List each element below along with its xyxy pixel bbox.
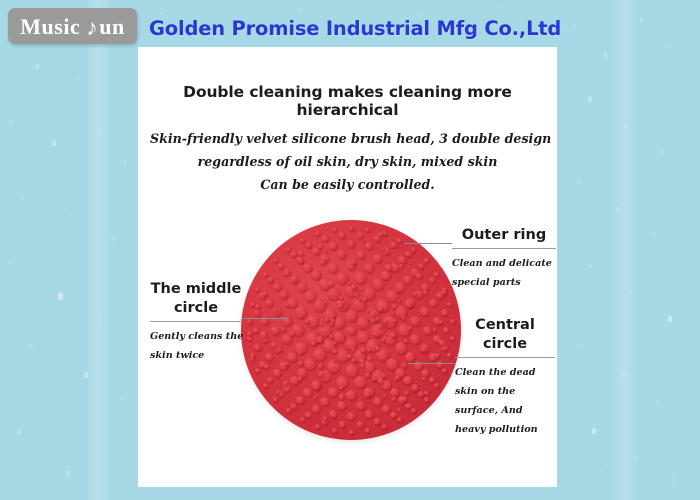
brush-nub <box>332 227 337 232</box>
brush-nub <box>336 272 348 284</box>
brush-nub <box>382 424 387 429</box>
brush-nub <box>290 403 297 410</box>
brush-nub <box>329 410 337 418</box>
callout-outer-ring-desc: Clean and delicate special parts <box>452 254 556 292</box>
brush-nub <box>412 385 418 391</box>
brush-nub <box>357 421 364 428</box>
brush-nub <box>404 339 408 343</box>
brush-nub <box>354 376 366 388</box>
brush-nub <box>365 372 371 378</box>
brush-nub <box>404 391 409 396</box>
brush-nub <box>253 327 260 334</box>
brush-nub <box>311 270 321 280</box>
brush-nub <box>315 231 320 236</box>
brush-nub <box>323 416 328 421</box>
brush-nub <box>330 322 334 326</box>
brush-nub <box>286 247 291 252</box>
brush-nub <box>356 250 365 259</box>
brush-nub <box>332 428 337 433</box>
leader-line-middle-circle <box>242 318 290 319</box>
brush-nub <box>289 331 295 337</box>
brush-nub <box>356 401 365 410</box>
water-droplet <box>66 470 70 476</box>
brush-nub <box>247 319 252 324</box>
water-droplet <box>300 8 302 12</box>
brush-nub <box>283 268 291 276</box>
callout-middle-circle: The middle circle Gently cleans the skin… <box>150 280 242 365</box>
brush-nub <box>315 424 320 429</box>
brush-nub <box>264 364 269 369</box>
brush-nub <box>329 242 337 250</box>
water-droplet <box>78 78 80 81</box>
callout-central-circle-desc-line-1: Clean the dead <box>455 363 555 382</box>
callout-central-circle-title: Central circle <box>455 316 555 354</box>
brush-nub <box>255 368 260 373</box>
brush-nub <box>423 290 428 295</box>
brush-nub <box>271 326 280 335</box>
brush-nub <box>405 251 412 258</box>
brush-nub <box>371 312 376 317</box>
water-droplet <box>120 398 122 401</box>
brush-nub <box>390 412 397 419</box>
callout-central-circle-desc-line-3: surface, And <box>455 401 555 420</box>
brush-nub <box>395 342 407 354</box>
brush-nub <box>305 319 310 324</box>
brush-nub <box>420 307 429 316</box>
callout-central-circle-title-line-2: circle <box>455 335 555 354</box>
brush-nub <box>255 287 260 292</box>
brush-nub <box>247 336 252 341</box>
water-droplet <box>70 214 72 217</box>
brush-nub <box>300 417 305 422</box>
brush-nub <box>365 410 373 418</box>
callout-central-circle-desc: Clean the dead skin on the surface, And … <box>455 363 555 439</box>
brush-nub <box>329 334 334 339</box>
brush-nub <box>441 290 446 295</box>
brush-nub <box>411 247 416 252</box>
callout-middle-circle-title-line-1: The middle <box>150 280 242 299</box>
brush-nub <box>365 242 373 250</box>
brush-nub <box>273 283 281 291</box>
brush-nub <box>362 239 365 242</box>
brush-nub <box>411 408 416 413</box>
brush-nub <box>273 369 281 377</box>
water-droplet <box>660 150 663 154</box>
brush-nub <box>339 232 346 239</box>
brush-nub <box>373 397 382 406</box>
callout-central-circle-rule <box>455 357 555 358</box>
brush-nub <box>303 388 312 397</box>
brush-nub <box>299 315 303 319</box>
brush-nub <box>390 242 397 249</box>
water-droplet <box>668 44 670 47</box>
brush-nub <box>416 273 422 279</box>
brush-nub <box>423 326 432 335</box>
brush-nub <box>349 430 354 435</box>
brush-nub <box>254 344 261 351</box>
water-droplet <box>98 132 100 135</box>
brush-nub <box>305 242 312 249</box>
brush-nub <box>397 299 400 302</box>
brush-nub <box>422 377 426 381</box>
logo-text-after: un <box>99 16 124 38</box>
brush-nub <box>331 315 335 319</box>
brush-nub <box>433 328 437 332</box>
water-droplet <box>104 452 106 455</box>
brush-nub <box>378 378 384 384</box>
brush-nub <box>250 302 255 307</box>
brush-nub <box>311 341 316 346</box>
brush-nub <box>346 390 356 400</box>
brush-nub <box>403 376 412 385</box>
brush-nub <box>408 326 412 330</box>
brush-nub <box>250 357 254 361</box>
brush-nub <box>281 327 285 331</box>
water-droplet <box>160 12 162 15</box>
callout-central-circle: Central circle Clean the dead skin on th… <box>455 316 555 439</box>
brush-nub <box>398 408 401 411</box>
brush-nub <box>429 299 437 307</box>
brush-nub <box>370 318 376 324</box>
brush-nub <box>320 260 325 265</box>
brush-nub <box>347 282 350 285</box>
brush-nub <box>339 421 346 428</box>
brush-nub <box>278 263 285 270</box>
callout-central-circle-desc-line-2: skin on the <box>455 382 555 401</box>
brush-nub <box>378 232 383 237</box>
brush-nub <box>390 388 399 397</box>
brush-nub <box>314 395 317 398</box>
brush-nub <box>406 302 412 308</box>
callout-outer-ring-desc-line-1: Clean and delicate <box>452 254 556 273</box>
brush-nub <box>328 280 334 286</box>
water-droplet <box>36 64 39 69</box>
brush-nub <box>402 396 408 402</box>
brush-nub <box>394 378 397 381</box>
callout-outer-ring-title: Outer ring <box>452 226 556 245</box>
brush-nub <box>374 418 381 425</box>
brush-nub <box>325 300 329 304</box>
brush-nub <box>263 383 268 388</box>
callout-middle-circle-desc-line-2: skin twice <box>150 346 242 365</box>
brush-nub <box>392 397 396 401</box>
brush-nub <box>318 244 323 249</box>
brush-nub <box>357 232 364 239</box>
brush-nub <box>325 317 329 321</box>
water-droplet <box>84 372 88 378</box>
water-droplet <box>652 232 654 236</box>
leader-line-central-circle <box>408 363 456 364</box>
water-droplet <box>578 180 580 183</box>
brush-nub <box>265 299 273 307</box>
brush-nub <box>347 240 355 248</box>
callout-middle-circle-rule <box>150 321 242 322</box>
brush-nub <box>337 250 346 259</box>
callout-outer-ring: Outer ring Clean and delicate special pa… <box>452 226 556 292</box>
water-droplet <box>668 316 672 322</box>
brush-nub <box>391 312 395 316</box>
water-droplet <box>58 292 63 300</box>
brush-nub <box>273 258 278 263</box>
company-title: Golden Promise Industrial Mfg Co.,Ltd <box>149 17 561 40</box>
brush-nub <box>298 376 302 380</box>
water-droplet <box>580 344 582 347</box>
brush-nub <box>313 348 326 361</box>
background-sheen-right <box>612 0 638 500</box>
brush-nub <box>395 290 398 293</box>
brush-nub <box>286 408 291 413</box>
callout-central-circle-title-line-1: Central <box>455 316 555 335</box>
callout-central-circle-desc-line-4: heavy pollution <box>455 420 555 439</box>
brush-nub <box>424 397 429 402</box>
subheadline-line-1: Skin-friendly velvet silicone brush head… <box>150 127 545 150</box>
water-droplet <box>616 206 620 212</box>
brush-nub <box>313 384 319 390</box>
brush-nub <box>339 296 343 300</box>
brush-nub <box>365 227 370 232</box>
brush-nub <box>298 361 303 366</box>
logo-text-before: Music <box>20 16 80 38</box>
brush-nub <box>375 346 380 351</box>
brush-nub <box>367 348 371 352</box>
brush-nub <box>385 264 391 270</box>
callout-middle-circle-desc: Gently cleans the skin twice <box>150 327 242 365</box>
subheadline-line-3: Can be easily controlled. <box>150 173 545 196</box>
brush-nub <box>260 331 266 337</box>
brush-nub <box>247 331 252 336</box>
brush-nub <box>319 322 323 326</box>
brush-nub <box>405 352 415 362</box>
brush-nub <box>287 352 297 362</box>
water-droplet <box>52 140 56 146</box>
water-droplet <box>124 160 126 164</box>
brush-nub <box>383 319 388 324</box>
brand-logo[interactable]: Music♪un <box>8 8 137 44</box>
water-droplet <box>100 318 102 322</box>
brush-nub <box>298 251 303 256</box>
brush-nub <box>403 275 412 284</box>
callout-middle-circle-desc-line-1: Gently cleans the <box>150 327 242 346</box>
water-droplet <box>588 264 591 268</box>
brush-nub <box>382 373 387 378</box>
subheadline-line-2: regardless of oil skin, dry skin, mixed … <box>150 150 545 173</box>
brush-nub <box>367 356 371 360</box>
water-droplet <box>572 24 574 27</box>
water-droplet <box>588 96 592 102</box>
subheadline: Skin-friendly velvet silicone brush head… <box>150 127 545 196</box>
brush-nub <box>325 249 328 252</box>
water-droplet <box>10 120 13 124</box>
brand-logo-text: Music♪un <box>20 15 124 38</box>
water-droplet <box>500 6 502 9</box>
brush-nub <box>320 397 329 406</box>
brush-nub <box>410 334 420 344</box>
brush-nub <box>305 412 312 419</box>
brush-nub <box>418 263 425 270</box>
brush-nub <box>421 369 429 377</box>
brush-nub <box>284 362 289 367</box>
brush-nub <box>303 263 312 272</box>
callout-middle-circle-title-line-2: circle <box>150 299 242 318</box>
brush-nub <box>429 377 436 384</box>
brush-nub <box>333 317 345 329</box>
brush-nub <box>372 278 384 290</box>
water-droplet <box>8 262 10 265</box>
brush-nub <box>296 396 304 404</box>
water-droplet <box>640 18 642 22</box>
water-droplet <box>622 372 625 377</box>
brush-nub <box>351 358 356 363</box>
brush-nub <box>300 238 305 243</box>
water-droplet <box>658 400 660 403</box>
brush-nub <box>312 405 320 413</box>
brush-nub <box>263 292 267 296</box>
brush-nub <box>328 263 338 273</box>
background-sheen-left <box>86 0 112 500</box>
headline: Double cleaning makes cleaning more hier… <box>138 83 557 119</box>
music-note-icon: ♪ <box>86 16 98 39</box>
product-infographic-page: Music♪un Golden Promise Industrial Mfg C… <box>0 0 700 500</box>
brush-nub <box>447 353 452 358</box>
brush-nub <box>304 358 316 370</box>
brush-nub <box>402 316 405 319</box>
brush-nub <box>434 272 439 277</box>
brush-nub <box>397 417 402 422</box>
water-droplet <box>18 430 21 434</box>
brush-nub <box>267 377 274 384</box>
brush-nub <box>328 387 338 397</box>
brush-nub <box>383 394 387 398</box>
brush-nub <box>345 310 357 322</box>
brush-nub <box>283 381 288 386</box>
brush-nub <box>381 270 391 280</box>
brush-nub <box>354 272 366 284</box>
brush-nub <box>447 302 452 307</box>
callout-outer-ring-rule <box>452 248 556 249</box>
water-droplet <box>112 236 115 241</box>
brush-nub <box>367 309 371 313</box>
brush-nub <box>424 258 429 263</box>
brush-nub <box>397 238 402 243</box>
brush-nub <box>333 359 336 362</box>
brush-nub <box>339 386 343 390</box>
brush-nub <box>337 401 346 410</box>
brush-nub <box>279 290 288 299</box>
brush-nub <box>349 226 354 231</box>
callout-middle-circle-title: The middle circle <box>150 280 242 318</box>
brush-nub <box>439 320 443 324</box>
brush-nub <box>429 277 436 284</box>
water-droplet <box>20 196 23 200</box>
brush-nub <box>420 347 425 352</box>
brush-nub <box>338 303 343 308</box>
callout-outer-ring-desc-line-2: special parts <box>452 273 556 292</box>
water-droplet <box>624 124 626 127</box>
brush-nub <box>347 326 356 335</box>
brush-nub <box>443 327 450 334</box>
brush-nub <box>382 405 390 413</box>
brush-nub <box>318 363 323 368</box>
brush-nub <box>434 353 439 358</box>
brush-nub <box>365 428 370 433</box>
brush-nub <box>322 235 329 242</box>
silicone-brush-head <box>241 220 461 440</box>
brush-nub <box>376 333 379 336</box>
brush-nub <box>410 316 420 326</box>
brush-nub <box>263 272 268 277</box>
brush-nub <box>273 397 278 402</box>
water-droplet <box>600 470 602 473</box>
brush-nub <box>345 364 358 377</box>
brush-nub <box>442 368 447 373</box>
brush-nub <box>267 277 274 284</box>
brush-nub <box>296 256 304 264</box>
brush-nub <box>402 363 407 368</box>
brush-nub <box>434 383 439 388</box>
brush-nub <box>399 264 402 267</box>
brush-nub <box>298 350 302 354</box>
brush-nub <box>362 297 367 302</box>
brush-nub <box>424 391 429 396</box>
water-droplet <box>604 52 607 57</box>
brush-nub <box>364 391 370 397</box>
brush-nub <box>271 342 277 348</box>
brush-nub <box>393 319 397 323</box>
brush-nub <box>339 394 344 399</box>
brush-nub <box>351 284 357 290</box>
brush-nub <box>378 306 383 311</box>
water-droplet <box>672 478 675 482</box>
water-droplet <box>30 344 33 348</box>
brush-nub <box>347 412 355 420</box>
brush-nub <box>333 342 336 345</box>
water-droplet <box>592 428 596 434</box>
brush-nub <box>441 309 448 316</box>
water-droplet <box>636 456 638 460</box>
brush-nub <box>373 254 382 263</box>
brush-nub <box>254 309 261 316</box>
brush-nub <box>364 263 374 273</box>
water-droplet <box>630 290 632 293</box>
brush-nub <box>265 353 273 361</box>
leader-line-outer-ring <box>404 243 452 244</box>
